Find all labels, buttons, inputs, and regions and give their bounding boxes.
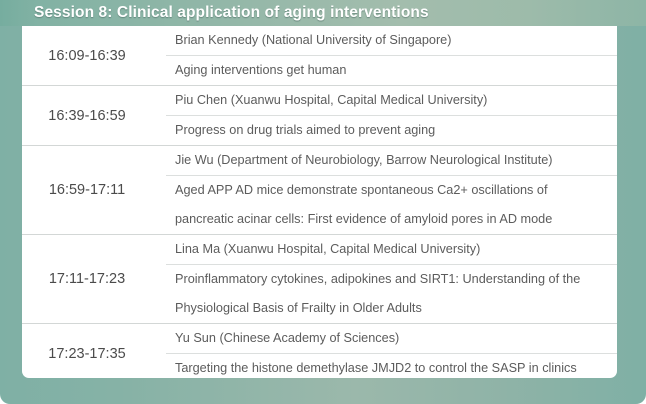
talk-title-line: Aging interventions get human xyxy=(166,56,617,85)
table-row: 17:11-17:23 Lina Ma (Xuanwu Hospital, Ca… xyxy=(22,235,617,324)
table-row: 16:59-17:11 Jie Wu (Department of Neurob… xyxy=(22,146,617,235)
time-cell: 17:11-17:23 xyxy=(22,235,166,324)
speaker-line: Lina Ma (Xuanwu Hospital, Capital Medica… xyxy=(166,235,617,265)
session-cell: Yu Sun (Chinese Academy of Sciences) Tar… xyxy=(166,324,617,379)
table-row: 16:09-16:39 Brian Kennedy (National Univ… xyxy=(22,26,617,86)
session-title-bar: Session 8: Clinical application of aging… xyxy=(0,0,646,26)
talk-title-line-cont: Physiological Basis of Frailty in Older … xyxy=(166,294,617,323)
page-title: Session 8: Clinical application of aging… xyxy=(34,4,429,22)
speaker-line: Brian Kennedy (National University of Si… xyxy=(166,26,617,56)
time-cell: 16:39-16:59 xyxy=(22,86,166,146)
time-cell: 16:59-17:11 xyxy=(22,146,166,235)
session-cell: Jie Wu (Department of Neurobiology, Barr… xyxy=(166,146,617,235)
schedule-body: 16:09-16:39 Brian Kennedy (National Univ… xyxy=(22,26,617,378)
speaker-line: Piu Chen (Xuanwu Hospital, Capital Medic… xyxy=(166,86,617,116)
table-row: 17:23-17:35 Yu Sun (Chinese Academy of S… xyxy=(22,324,617,379)
talk-title-line: Targeting the histone demethylase JMJD2 … xyxy=(166,354,617,378)
session-schedule-screen: Session 8: Clinical application of aging… xyxy=(0,0,646,404)
table-row: 16:39-16:59 Piu Chen (Xuanwu Hospital, C… xyxy=(22,86,617,146)
schedule-table: 16:09-16:39 Brian Kennedy (National Univ… xyxy=(22,26,617,378)
talk-title-line: Progress on drug trials aimed to prevent… xyxy=(166,116,617,145)
session-cell: Lina Ma (Xuanwu Hospital, Capital Medica… xyxy=(166,235,617,324)
speaker-line: Jie Wu (Department of Neurobiology, Barr… xyxy=(166,146,617,176)
talk-title-line-cont: pancreatic acinar cells: First evidence … xyxy=(166,205,617,234)
time-cell: 16:09-16:39 xyxy=(22,26,166,86)
talk-title-line: Proinflammatory cytokines, adipokines an… xyxy=(166,265,617,294)
session-cell: Brian Kennedy (National University of Si… xyxy=(166,26,617,86)
speaker-line: Yu Sun (Chinese Academy of Sciences) xyxy=(166,324,617,354)
time-cell: 17:23-17:35 xyxy=(22,324,166,379)
talk-title-line: Aged APP AD mice demonstrate spontaneous… xyxy=(166,176,617,205)
session-cell: Piu Chen (Xuanwu Hospital, Capital Medic… xyxy=(166,86,617,146)
schedule-card: 16:09-16:39 Brian Kennedy (National Univ… xyxy=(22,26,617,378)
